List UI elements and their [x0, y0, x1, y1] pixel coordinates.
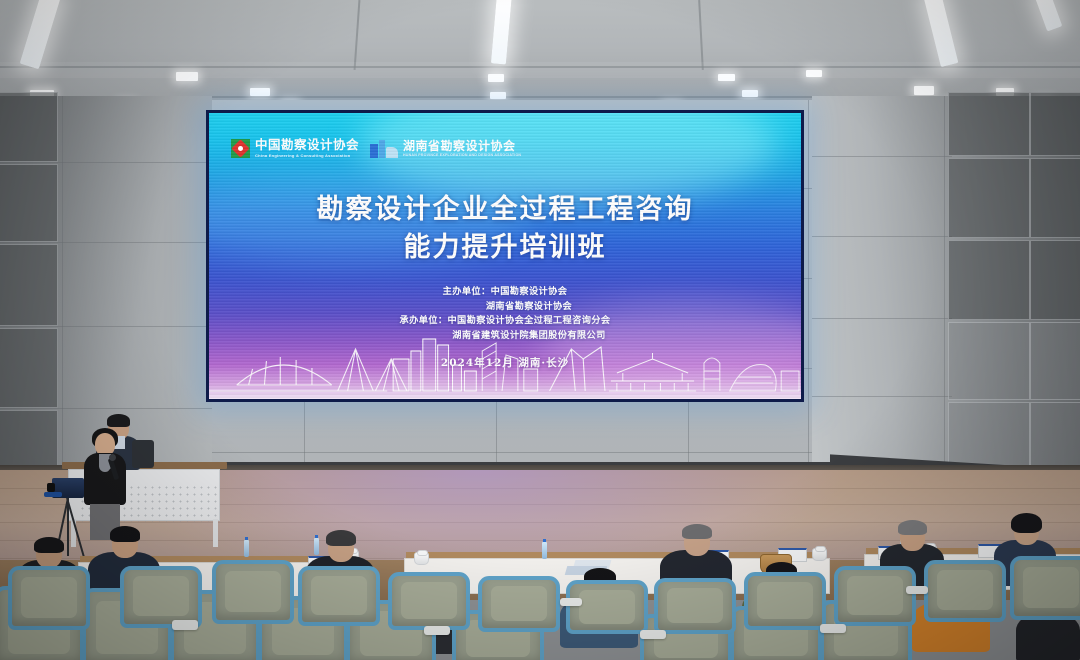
seat-armrest — [560, 598, 582, 606]
organizer-value: 湖南省勘察设计协会 — [486, 301, 572, 312]
presenter-speaker — [84, 428, 126, 540]
camera-handle — [44, 492, 62, 497]
official-hair — [107, 414, 130, 427]
organizer-row: 湖南省勘察设计协会 — [209, 300, 801, 315]
acoustic-panel — [0, 244, 58, 326]
ceiling-panel-light — [176, 72, 198, 81]
organizer-value: 中国勘察设计协会 — [491, 286, 568, 297]
tea-cup — [414, 552, 429, 565]
auditorium-seat[interactable] — [388, 572, 462, 622]
acoustic-panel — [948, 158, 1030, 238]
seat-armrest — [640, 630, 666, 639]
acoustic-panel — [1030, 158, 1080, 238]
seat-armrest — [424, 626, 450, 635]
auditorium-seat[interactable] — [834, 566, 908, 618]
auditorium-seat[interactable] — [924, 560, 998, 614]
slide-logo-bar: 中国勘察设计协会 China Engineering & Consulting … — [231, 139, 521, 158]
ceiling-strip-light — [1034, 0, 1063, 32]
auditorium-seat[interactable] — [298, 566, 372, 618]
slide-title-line-2: 能力提升培训班 — [209, 229, 801, 267]
acoustic-panel — [948, 322, 1030, 400]
conference-room-photo: 中国勘察设计协会 China Engineering & Consulting … — [0, 0, 1080, 660]
ceiling-panel-light — [250, 88, 270, 96]
seat-armrest — [906, 586, 928, 594]
led-presentation-screen: 中国勘察设计协会 China Engineering & Consulting … — [206, 110, 804, 402]
logo-cn-en: China Engineering & Consulting Associati… — [255, 154, 359, 158]
acoustic-panel — [948, 240, 1030, 320]
water-bottle — [244, 540, 249, 557]
microphone-head-icon — [109, 454, 116, 461]
acoustic-panel — [1030, 240, 1080, 320]
acoustic-panel — [1030, 92, 1080, 156]
hunan-building-icon — [370, 140, 398, 158]
ceiling-strip-light — [491, 0, 512, 65]
seat-armrest — [820, 624, 846, 633]
logo-china-engineering-consulting-association: 中国勘察设计协会 China Engineering & Consulting … — [231, 139, 359, 158]
office-chair — [132, 440, 154, 468]
ceiling-panel-light — [490, 92, 506, 99]
slide-content: 中国勘察设计协会 China Engineering & Consulting … — [209, 113, 801, 399]
ceiling-panel-light — [914, 86, 934, 95]
auditorium-seat[interactable] — [212, 560, 286, 616]
auditorium-seat[interactable] — [654, 578, 728, 626]
acoustic-panel — [0, 164, 58, 242]
ceiling-strip-light — [924, 0, 959, 67]
ceiling-panel-light — [718, 74, 735, 81]
ceiling-panel-light — [488, 74, 504, 82]
ceiling-panel-light — [806, 70, 822, 77]
auditorium-seat[interactable] — [120, 566, 194, 620]
acoustic-panel — [0, 328, 58, 408]
organizer-row: 主办单位：中国勘察设计协会 — [209, 285, 801, 300]
acoustic-panel — [1030, 322, 1080, 400]
auditorium-seat[interactable] — [1010, 556, 1080, 612]
acoustic-panel — [948, 92, 1030, 156]
ceiling-strip-light — [20, 0, 61, 69]
logo-hn-en: HUNAN PROVINCE EXPLORATION AND DESIGN AS… — [403, 154, 521, 158]
auditorium-seat[interactable] — [8, 566, 82, 622]
acoustic-panel — [0, 92, 58, 162]
city-skyline-graphic — [209, 325, 801, 399]
slide-title: 勘察设计企业全过程工程咨询 能力提升培训班 — [209, 191, 801, 268]
logo-hn-zh: 湖南省勘察设计协会 — [403, 140, 521, 152]
tea-cup — [812, 548, 827, 561]
slide-title-line-1: 勘察设计企业全过程工程咨询 — [209, 191, 801, 229]
cesa-emblem-icon — [231, 139, 250, 158]
organizer-label: 主办单位： — [443, 286, 491, 297]
camera-lens-icon — [47, 483, 55, 492]
logo-cn-zh: 中国勘察设计协会 — [255, 139, 359, 152]
seat-armrest — [172, 620, 198, 630]
auditorium-seat[interactable] — [744, 572, 818, 622]
auditorium-seat[interactable] — [478, 576, 552, 624]
logo-hunan-exploration-design-association: 湖南省勘察设计协会 HUNAN PROVINCE EXPLORATION AND… — [370, 140, 521, 158]
water-bottle — [542, 542, 547, 559]
ceiling-panel-light — [742, 90, 758, 97]
